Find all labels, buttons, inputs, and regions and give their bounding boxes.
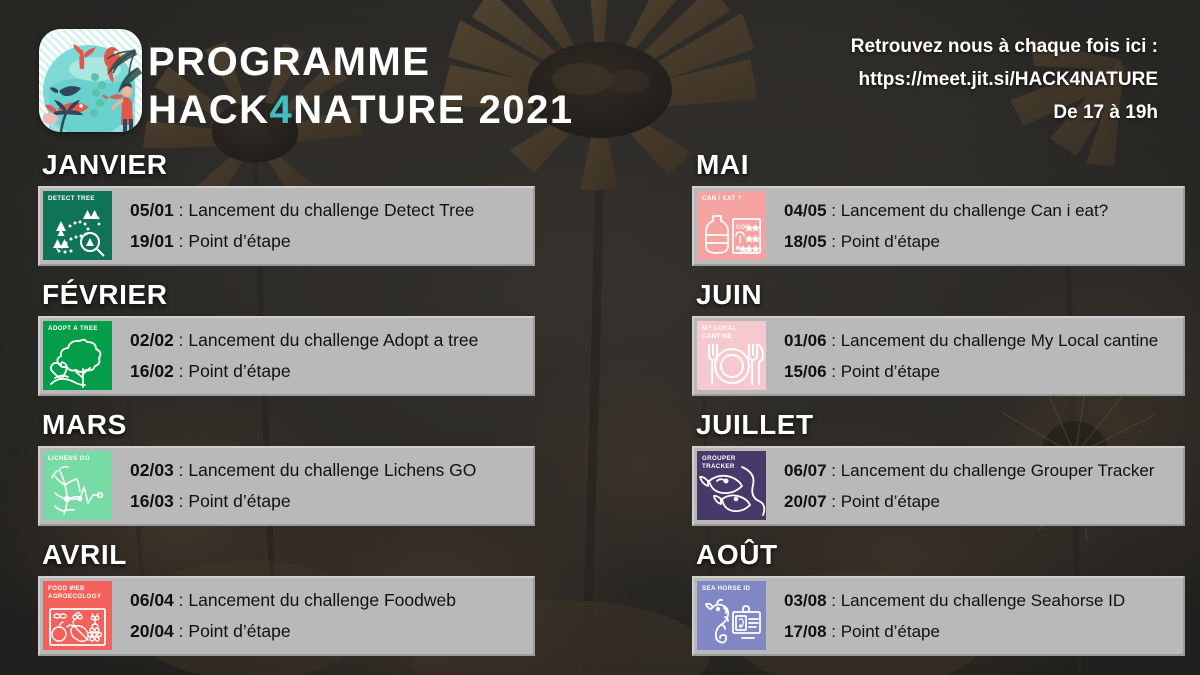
entry-text: Point d’étape [188,491,290,511]
meeting-link[interactable]: https://meet.jit.si/HACK4NATURE [851,63,1158,96]
entry-date: 02/03 [130,460,174,480]
entry-text: Point d’étape [188,361,290,381]
month-block-juin: JUIN MY LOCAL CANTINE01/06 : Lancement d… [692,280,1192,410]
entry-separator: : [827,622,841,641]
logo-illustration [39,29,142,132]
entry-date: 05/01 [130,200,174,220]
schedule-column-left: JANVIER DETECT TREE05/01 : Lancement du … [38,150,538,670]
challenge-thumbnail[interactable]: DETECT TREE [43,191,112,260]
entry-separator: : [827,331,841,350]
entry-list: 04/05 : Lancement du challenge Can i eat… [766,188,1183,264]
entry-date: 04/05 [784,201,827,220]
entry-separator: : [174,621,189,641]
entry-separator: : [827,362,841,381]
entry-date: 16/02 [130,361,174,381]
hack4nature-logo [39,29,142,132]
schedule-entry: 06/04 : Lancement du challenge Foodweb [130,585,533,616]
entry-separator: : [827,201,841,220]
schedule-entry: 06/07 : Lancement du challenge Grouper T… [784,455,1183,486]
challenge-thumbnail[interactable]: ADOPT A TREE [43,321,112,390]
entry-date: 15/06 [784,362,827,381]
entry-date: 02/02 [130,330,174,350]
schedule-entry: 16/02 : Point d’étape [130,356,533,387]
month-entry-bar: SEA HORSE ID03/08 : Lancement du challen… [692,576,1185,656]
schedule-entry: 02/03 : Lancement du challenge Lichens G… [130,455,533,486]
header: PROGRAMME HACK4NATURE 2021 Retrouvez nou… [0,0,1200,150]
challenge-thumbnail[interactable]: GROUPER TRACKER [697,451,766,520]
entry-text: Lancement du challenge Foodweb [188,590,456,610]
month-block-avril: AVRIL FOOD WEB AGROECOLOGY06/04 : Lancem… [38,540,538,670]
month-heading: JUIN [692,280,1192,310]
month-heading: MARS [38,410,538,440]
page-title-line1: PROGRAMME [148,38,574,86]
month-heading: AVRIL [38,540,538,570]
meeting-info: Retrouvez nous à chaque fois ici : https… [851,30,1158,129]
challenge-thumbnail-label: CAN I EAT ? [702,195,742,203]
entry-date: 20/04 [130,621,174,641]
schedule-entry: 16/03 : Point d’étape [130,486,533,517]
entry-text: Lancement du challenge Seahorse ID [841,591,1125,610]
entry-separator: : [174,590,189,610]
entry-text: Lancement du challenge Adopt a tree [188,330,478,350]
month-heading: AOÛT [692,540,1192,570]
challenge-thumbnail[interactable]: CO² CAN I EAT ? [697,191,766,260]
challenge-thumbnail-label: MY LOCAL CANTINE [702,325,766,340]
entry-text: Lancement du challenge Can i eat? [841,201,1108,220]
entry-separator: : [174,460,189,480]
entry-separator: : [827,492,841,511]
month-heading: MAI [692,150,1192,180]
month-entry-bar: LICHENS GO02/03 : Lancement du challenge… [38,446,535,526]
challenge-thumbnail-label: GROUPER TRACKER [702,455,736,470]
entry-text: Point d’étape [841,362,940,381]
schedule-entry: 01/06 : Lancement du challenge My Local … [784,325,1183,356]
month-block-mars: MARS LICHENS GO02/03 : Lancement du chal… [38,410,538,540]
challenge-thumbnail[interactable]: MY LOCAL CANTINE [697,321,766,390]
entry-separator: : [827,461,841,480]
entry-separator: : [174,231,189,251]
challenge-thumbnail[interactable]: FOOD WEB AGROECOLOGY [43,581,112,650]
entry-text: Lancement du challenge Detect Tree [188,200,474,220]
entry-separator: : [174,330,189,350]
entry-separator: : [174,491,189,511]
entry-list: 06/04 : Lancement du challenge Foodweb20… [112,578,533,654]
entry-text: Point d’étape [841,622,940,641]
entry-text: Point d’étape [841,492,940,511]
schedule-entry: 15/06 : Point d’étape [784,356,1183,387]
entry-text: Lancement du challenge Grouper Tracker [841,461,1155,480]
meeting-hours: De 17 à 19h [851,96,1158,129]
schedule-entry: 04/05 : Lancement du challenge Can i eat… [784,195,1183,226]
challenge-thumbnail-label: ADOPT A TREE [48,325,98,333]
challenge-thumbnail-label: DETECT TREE [48,195,95,203]
month-block-février: FÉVRIER ADOPT A TREE02/02 : Lancement du… [38,280,538,410]
month-heading: FÉVRIER [38,280,538,310]
entry-date: 19/01 [130,231,174,251]
challenge-thumbnail-label: FOOD WEB AGROECOLOGY [48,585,101,600]
entry-date: 20/07 [784,492,827,511]
entry-list: 03/08 : Lancement du challenge Seahorse … [766,578,1183,654]
month-entry-bar: CO² CAN I EAT ?04/05 : Lancement du chal… [692,186,1185,266]
entry-list: 06/07 : Lancement du challenge Grouper T… [766,448,1183,524]
month-entry-bar: GROUPER TRACKER06/07 : Lancement du chal… [692,446,1185,526]
month-heading: JANVIER [38,150,538,180]
entry-text: Lancement du challenge Lichens GO [188,460,476,480]
entry-list: 05/01 : Lancement du challenge Detect Tr… [112,188,533,264]
svg-text:CO²: CO² [736,224,747,231]
entry-separator: : [827,232,841,251]
challenge-thumbnail-label: SEA HORSE ID [702,585,750,593]
entry-date: 17/08 [784,622,827,641]
page-title-line2: HACK4NATURE 2021 [148,86,574,134]
entry-text: Lancement du challenge My Local cantine [841,331,1159,350]
schedule-entry: 20/07 : Point d’étape [784,486,1183,517]
entry-date: 03/08 [784,591,827,610]
entry-date: 18/05 [784,232,827,251]
challenge-thumbnail[interactable]: LICHENS GO [43,451,112,520]
schedule-entry: 17/08 : Point d’étape [784,616,1183,647]
meeting-intro-text: Retrouvez nous à chaque fois ici : [851,30,1158,63]
entry-text: Point d’étape [188,231,290,251]
schedule-entry: 20/04 : Point d’étape [130,616,533,647]
schedule-entry: 19/01 : Point d’étape [130,226,533,257]
entry-text: Point d’étape [188,621,290,641]
month-block-mai: MAI CO² CAN I EAT ?04/05 : Lancement du … [692,150,1192,280]
schedule-entry: 03/08 : Lancement du challenge Seahorse … [784,585,1183,616]
entry-separator: : [827,591,841,610]
title-block: PROGRAMME HACK4NATURE 2021 [148,38,574,134]
month-entry-bar: FOOD WEB AGROECOLOGY06/04 : Lancement du… [38,576,535,656]
entry-list: 02/03 : Lancement du challenge Lichens G… [112,448,533,524]
entry-date: 06/07 [784,461,827,480]
title-nature-year: NATURE 2021 [293,88,573,132]
entry-text: Point d’étape [841,232,940,251]
entry-date: 16/03 [130,491,174,511]
month-block-janvier: JANVIER DETECT TREE05/01 : Lancement du … [38,150,538,280]
schedule-entry: 18/05 : Point d’étape [784,226,1183,257]
entry-separator: : [174,200,189,220]
schedule-entry: 02/02 : Lancement du challenge Adopt a t… [130,325,533,356]
month-entry-bar: ADOPT A TREE02/02 : Lancement du challen… [38,316,535,396]
month-heading: JUILLET [692,410,1192,440]
title-hack: HACK [148,88,270,132]
month-entry-bar: DETECT TREE05/01 : Lancement du challeng… [38,186,535,266]
entry-list: 01/06 : Lancement du challenge My Local … [766,318,1183,394]
entry-list: 02/02 : Lancement du challenge Adopt a t… [112,318,533,394]
title-accent-four: 4 [270,88,294,132]
entry-date: 06/04 [130,590,174,610]
entry-date: 01/06 [784,331,827,350]
entry-separator: : [174,361,189,381]
month-block-août: AOÛT SEA HORSE ID03/08 : Lancement du ch… [692,540,1192,670]
month-entry-bar: MY LOCAL CANTINE01/06 : Lancement du cha… [692,316,1185,396]
month-block-juillet: JUILLET GROUPER TRACKER06/07 : Lancement… [692,410,1192,540]
challenge-thumbnail-label: LICHENS GO [48,455,90,463]
schedule-column-right: MAI CO² CAN I EAT ?04/05 : Lancement du … [692,150,1192,670]
schedule-entry: 05/01 : Lancement du challenge Detect Tr… [130,195,533,226]
challenge-thumbnail[interactable]: SEA HORSE ID [697,581,766,650]
